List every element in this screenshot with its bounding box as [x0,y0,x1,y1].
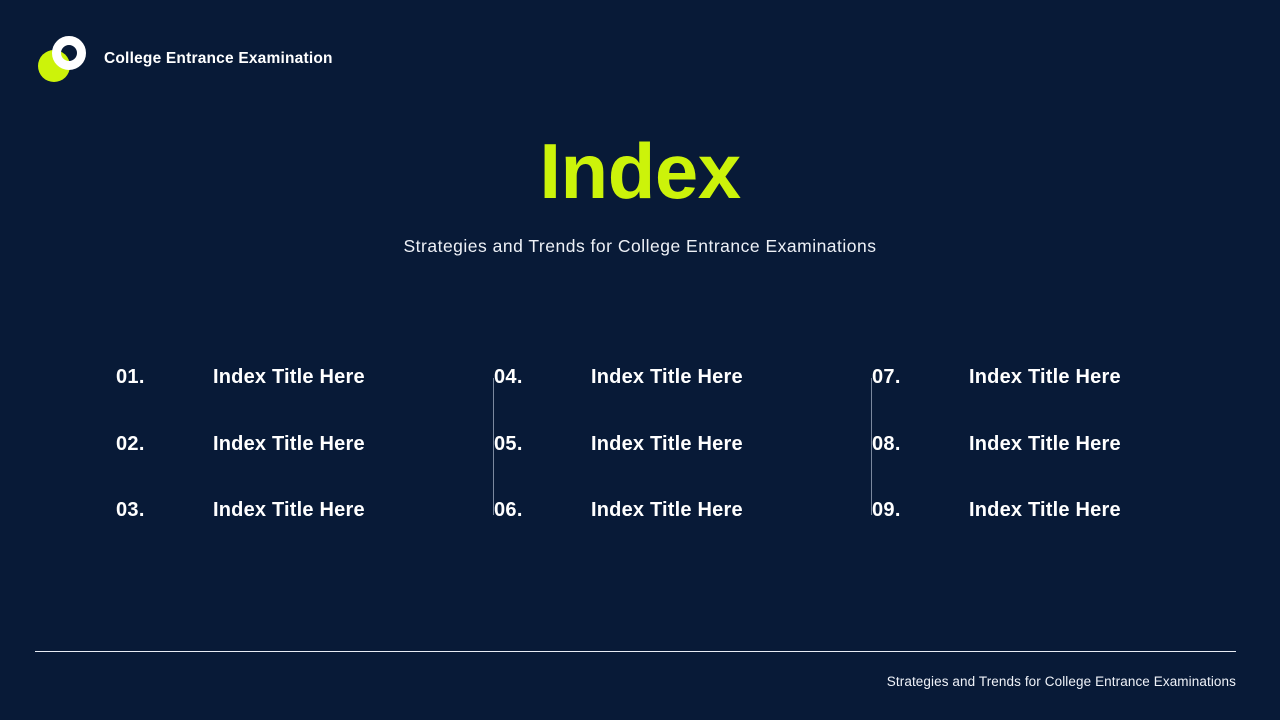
brand-name: College Entrance Examination [104,50,333,68]
title-block: Index Strategies and Trends for College … [0,132,1280,257]
index-item-label: Index Title Here [591,499,743,522]
brand-logo [38,36,86,82]
index-item-label: Index Title Here [213,499,365,522]
list-item[interactable]: 09. Index Title Here [872,499,1164,566]
index-item-label: Index Title Here [591,433,743,456]
index-column-3: 07. Index Title Here 08. Index Title Her… [872,366,1164,566]
index-item-label: Index Title Here [213,433,365,456]
index-item-number: 03. [116,499,213,522]
ring-circle-icon [52,36,86,70]
index-column-1: 01. Index Title Here 02. Index Title Her… [116,366,494,566]
list-item[interactable]: 07. Index Title Here [872,366,1164,433]
index-column-2: 04. Index Title Here 05. Index Title Her… [494,366,872,566]
list-item[interactable]: 03. Index Title Here [116,499,494,566]
list-item[interactable]: 01. Index Title Here [116,366,494,433]
index-item-number: 01. [116,366,213,389]
list-item[interactable]: 05. Index Title Here [494,433,872,500]
page-title: Index [0,132,1280,210]
index-item-number: 04. [494,366,591,389]
index-grid: 01. Index Title Here 02. Index Title Her… [116,366,1164,566]
index-item-label: Index Title Here [591,366,743,389]
index-item-number: 09. [872,499,969,522]
index-item-label: Index Title Here [969,499,1121,522]
index-item-number: 07. [872,366,969,389]
brand-header: College Entrance Examination [38,35,333,83]
list-item[interactable]: 06. Index Title Here [494,499,872,566]
index-item-number: 08. [872,433,969,456]
index-item-number: 05. [494,433,591,456]
index-item-number: 02. [116,433,213,456]
index-item-number: 06. [494,499,591,522]
list-item[interactable]: 08. Index Title Here [872,433,1164,500]
footer-text: Strategies and Trends for College Entran… [35,674,1236,689]
list-item[interactable]: 02. Index Title Here [116,433,494,500]
index-item-label: Index Title Here [969,366,1121,389]
list-item[interactable]: 04. Index Title Here [494,366,872,433]
slide-root: College Entrance Examination Index Strat… [0,0,1280,720]
footer-divider [35,651,1236,652]
index-item-label: Index Title Here [969,433,1121,456]
index-item-label: Index Title Here [213,366,365,389]
page-subtitle: Strategies and Trends for College Entran… [0,236,1280,257]
